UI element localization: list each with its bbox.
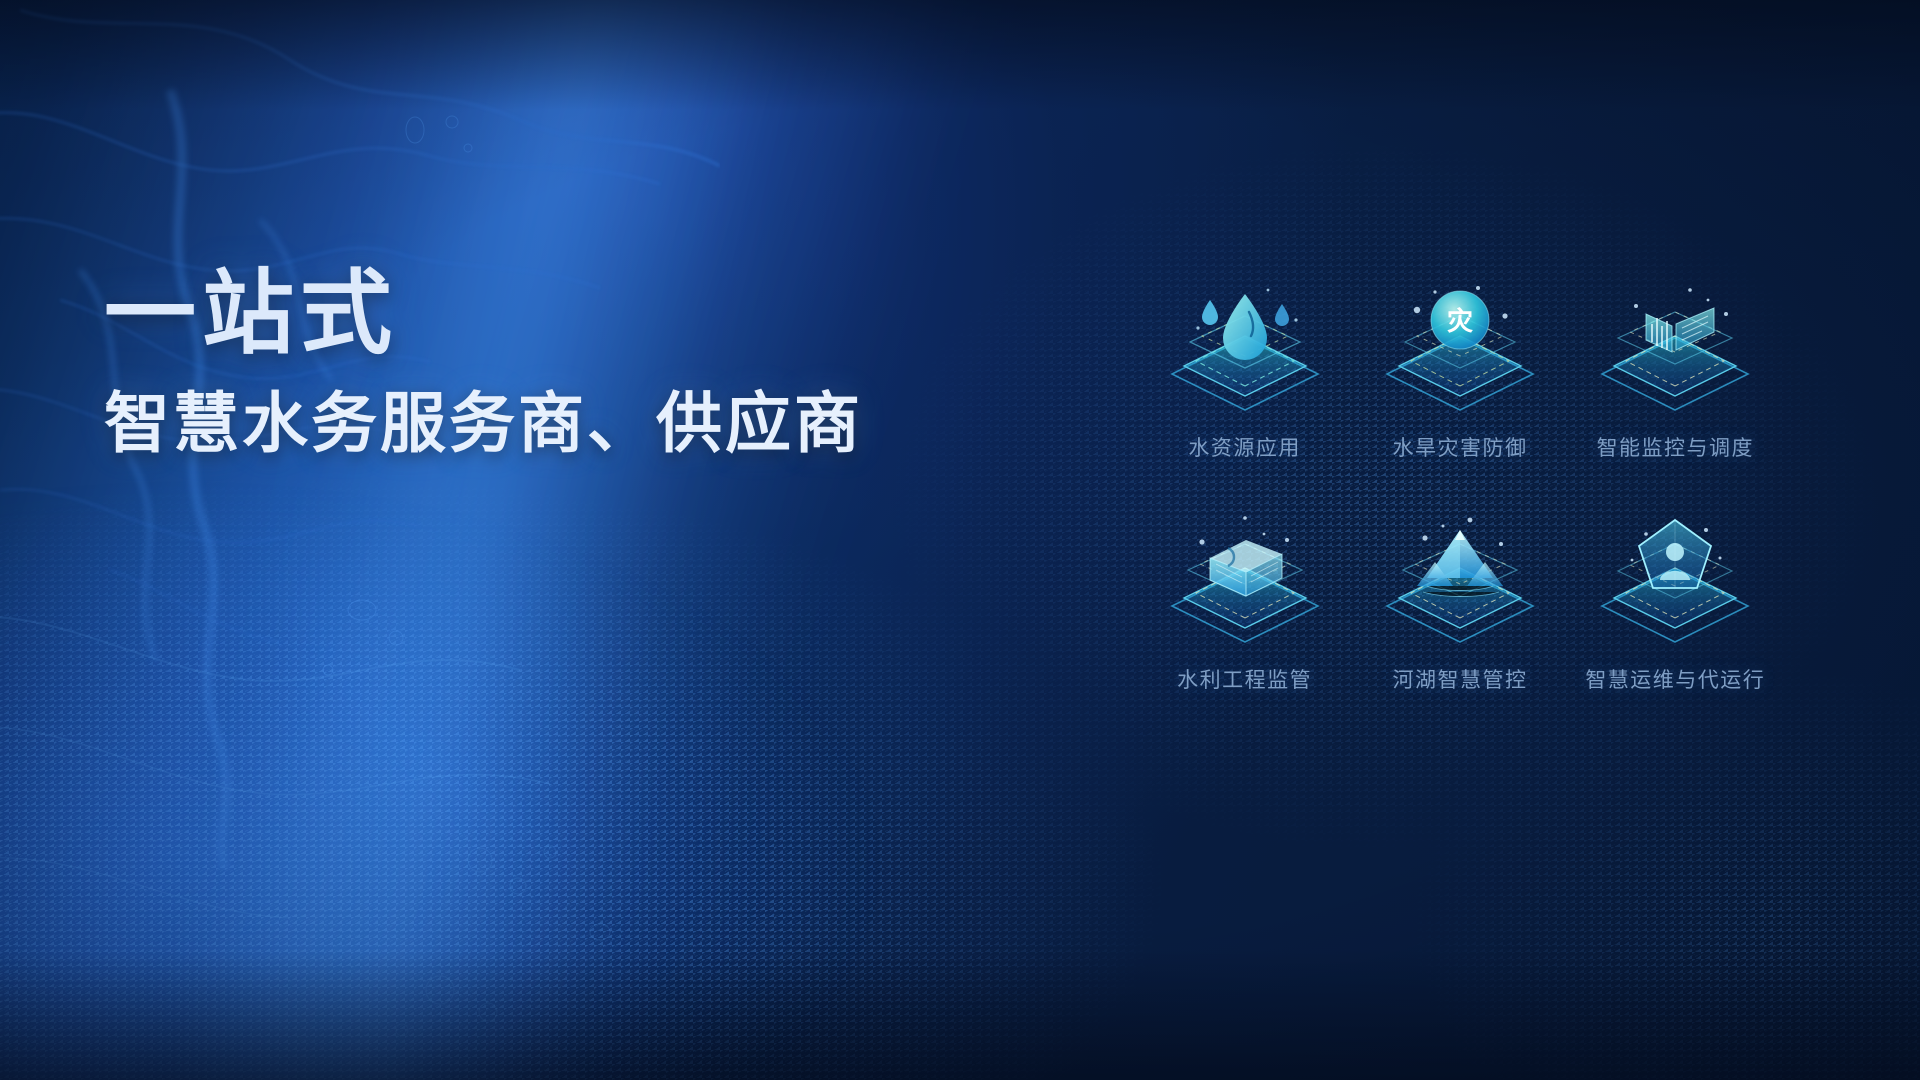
mountain-river-platform-icon [1365,500,1555,660]
monitor-screens-platform-icon [1580,268,1770,428]
service-label: 智慧运维与代运行 [1585,664,1765,694]
hero-copy-block: 一站式 智慧水务服务商、供应商 [104,268,1004,459]
disaster-glyph: 灾 [1447,306,1473,336]
shield-operator-platform-icon [1580,500,1770,660]
service-item-smart-ops[interactable]: 智慧运维与代运行 [1571,500,1780,694]
hero-headline: 一站式 [104,268,1004,362]
service-label: 水利工程监管 [1177,664,1312,694]
dam-structure-platform-icon [1150,500,1340,660]
service-item-flood-drought-defense[interactable]: 灾 水旱灾害防御 [1355,268,1564,462]
background-top-fade [0,0,1920,110]
water-drop-platform-icon [1150,268,1340,428]
disaster-sphere-platform-icon: 灾 [1365,268,1555,428]
background-bottom-fade [0,950,1920,1080]
service-label: 河湖智慧管控 [1392,664,1527,694]
service-label: 水旱灾害防御 [1392,432,1527,462]
service-item-river-lake-control[interactable]: 河湖智慧管控 [1355,500,1564,694]
service-item-water-resource[interactable]: 水资源应用 [1140,268,1349,462]
service-label: 水资源应用 [1188,432,1301,462]
hero-subheadline: 智慧水务服务商、供应商 [104,388,1004,459]
service-icon-grid: 水资源应用 灾 [1140,268,1780,694]
service-label: 智能监控与调度 [1597,432,1755,462]
service-item-hydraulic-engineering[interactable]: 水利工程监管 [1140,500,1349,694]
service-item-smart-monitoring[interactable]: 智能监控与调度 [1571,268,1780,462]
